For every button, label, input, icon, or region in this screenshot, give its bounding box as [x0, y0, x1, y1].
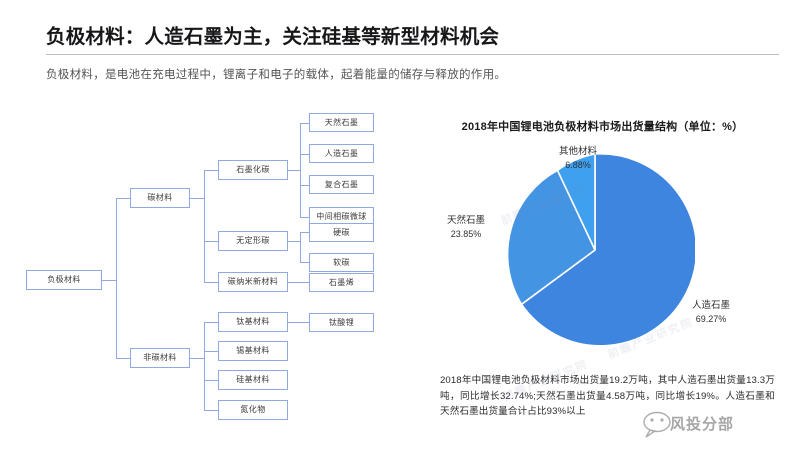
tree-node-silicon: 硅基材料: [218, 370, 288, 390]
tree-connector: [300, 262, 309, 263]
tree-node-carbon-nano: 碳纳米新材料: [218, 272, 288, 292]
tree-node-root: 负极材料: [26, 270, 102, 290]
tree-connector: [204, 241, 218, 242]
tree-leaf-natural-graphite: 天然石墨: [309, 113, 374, 132]
tree-leaf-composite-graphite: 复合石墨: [309, 175, 374, 194]
tree-leaf-artificial-graphite: 人造石墨: [309, 144, 374, 163]
tree-node-graphitized-carbon: 石墨化碳: [218, 160, 288, 180]
tree-leaf-graphene: 石墨烯: [309, 273, 374, 292]
tree-connector: [204, 170, 205, 282]
tree-connector: [204, 322, 218, 323]
tree-connector: [204, 282, 218, 283]
tree-connector: [204, 170, 218, 171]
tree-connector: [300, 123, 309, 124]
tree-connector: [116, 198, 117, 358]
tree-node-amorphous-carbon: 无定形碳: [218, 231, 288, 251]
tree-leaf-lithium-titanate: 钛酸锂: [309, 313, 374, 332]
tree-connector: [288, 322, 309, 323]
tree-leaf-soft-carbon: 软碳: [309, 253, 374, 272]
pie-label-natural-graphite: 天然石墨 23.85%: [420, 215, 512, 240]
pie-label-artificial-graphite: 人造石墨 69.27%: [663, 300, 759, 325]
tree-connector: [190, 198, 204, 199]
chart-note: 2018年中国锂电池负极材料市场出货量19.2万吨，其中人造石墨出货量13.3万…: [440, 373, 775, 420]
pie-label-natural-graphite-name: 天然石墨: [420, 215, 512, 228]
chart-title: 2018年中国锂电池负极材料市场出货量结构（单位：%）: [415, 118, 790, 134]
page-subtitle: 负极材料，是电池在充电过程中，锂离子和电子的载体，起着能量的储存与释放的作用。: [46, 67, 780, 84]
tree-node-titanium: 钛基材料: [218, 312, 288, 332]
pie-label-other-materials-value: 6.88%: [533, 159, 623, 171]
tree-connector: [288, 241, 300, 242]
slide-root: 负极材料：人造石墨为主，关注硅基等新型材料机会 负极材料，是电池在充电过程中，锂…: [0, 0, 800, 450]
page-title: 负极材料：人造石墨为主，关注硅基等新型材料机会: [46, 24, 780, 50]
tree-leaf-hard-carbon: 硬碳: [309, 223, 374, 242]
tree-connector: [300, 217, 309, 218]
tree-connector: [204, 351, 218, 352]
tree-connector: [288, 282, 309, 283]
slide-header: 负极材料：人造石墨为主，关注硅基等新型材料机会 负极材料，是电池在充电过程中，锂…: [46, 24, 780, 85]
tree-connector: [300, 154, 309, 155]
pie-label-artificial-graphite-name: 人造石墨: [663, 300, 759, 313]
tree-connector: [204, 410, 218, 411]
tree-node-non-carbon: 非碳材料: [130, 348, 190, 368]
pie-label-natural-graphite-value: 23.85%: [420, 228, 512, 240]
material-classification-tree: 负极材料 碳材料 非碳材料 石墨化碳 无定形碳 碳纳米新材料 天然石墨 人造石墨…: [0, 110, 420, 430]
tree-node-tin: 锡基材料: [218, 341, 288, 361]
tree-connector: [116, 198, 130, 199]
tree-connector: [204, 322, 205, 410]
tree-node-nitride: 氮化物: [218, 400, 288, 420]
tree-connector: [300, 185, 309, 186]
tree-connector: [204, 380, 218, 381]
tree-connector: [300, 123, 301, 217]
tree-connector: [116, 358, 130, 359]
pie-chart-panel: 2018年中国锂电池负极材料市场出货量结构（单位：%） 其他材料 6.88% 天…: [415, 118, 790, 438]
tree-connector: [190, 358, 204, 359]
pie-label-other-materials: 其他材料 6.88%: [533, 146, 623, 171]
pie-label-artificial-graphite-value: 69.27%: [663, 313, 759, 325]
tree-connector: [102, 280, 116, 281]
title-divider: [46, 54, 779, 55]
tree-connector: [300, 232, 309, 233]
pie-label-other-materials-name: 其他材料: [533, 146, 623, 159]
tree-connector: [300, 232, 301, 262]
tree-node-carbon: 碳材料: [130, 188, 190, 208]
tree-connector: [288, 170, 300, 171]
